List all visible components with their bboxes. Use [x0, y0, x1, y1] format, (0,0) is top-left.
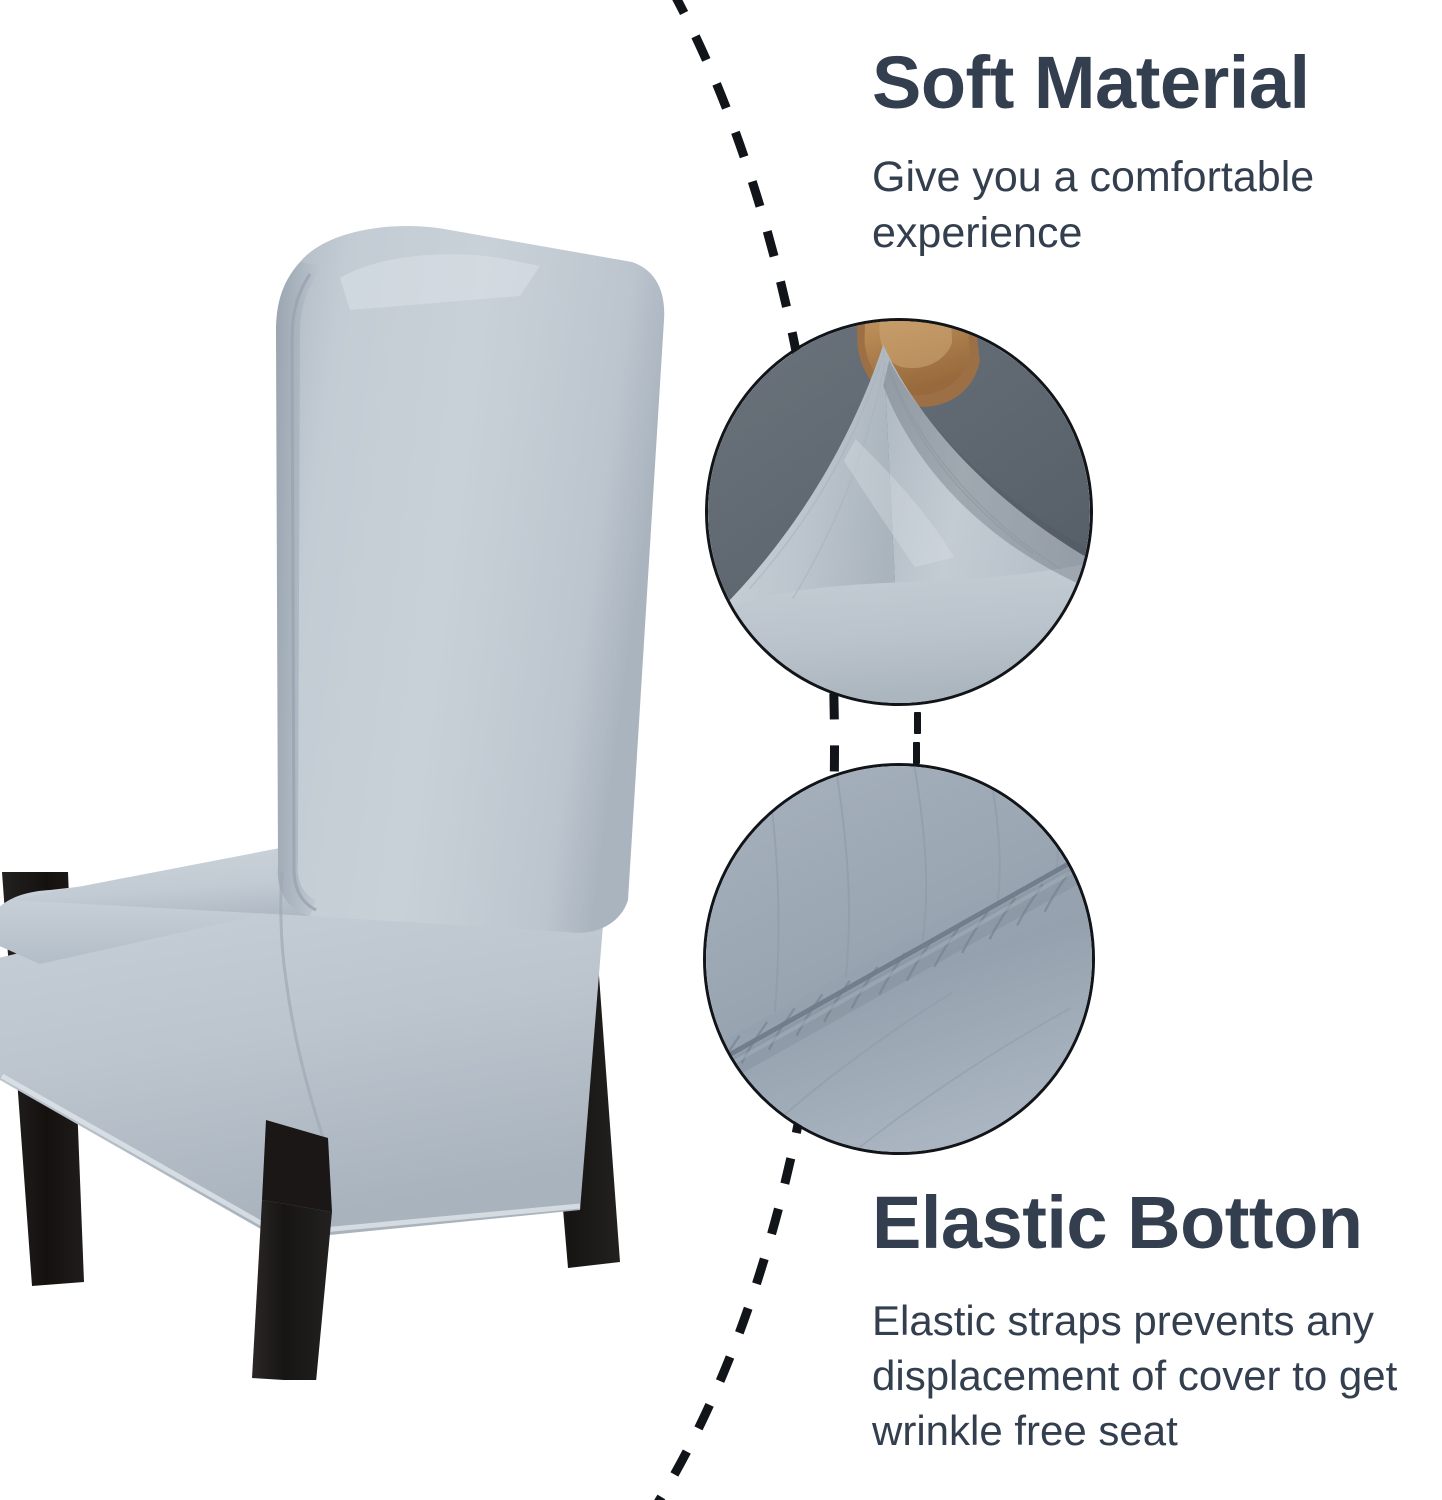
chair-leg-front-center — [252, 1200, 332, 1380]
callout-connector-dash-upper — [914, 712, 921, 734]
feature-body-elastic-bottom: Elastic straps prevents any displacement… — [872, 1294, 1432, 1458]
feature-heading-soft-material: Soft Material — [872, 45, 1417, 120]
feature-body-soft-material: Give you a comfortable experience — [872, 150, 1417, 262]
feature-text-elastic-bottom: Elastic Botton Elastic straps prevents a… — [872, 1185, 1432, 1458]
feature-text-soft-material: Soft Material Give you a comfortable exp… — [872, 45, 1417, 262]
chair-backrest-face — [278, 226, 664, 933]
product-infographic: Soft Material Give you a comfortable exp… — [0, 0, 1442, 1500]
callout-elastic-bottom-photo — [703, 763, 1095, 1155]
callout-soft-material-photo — [705, 318, 1093, 706]
elastic-hem-illustration — [706, 766, 1092, 1152]
callout-connector-dash-lower — [913, 742, 920, 764]
fabric-pinch-illustration — [708, 321, 1090, 703]
chair-product-photo — [0, 200, 680, 1380]
chair-illustration — [0, 200, 680, 1380]
feature-heading-elastic-bottom: Elastic Botton — [872, 1185, 1432, 1260]
